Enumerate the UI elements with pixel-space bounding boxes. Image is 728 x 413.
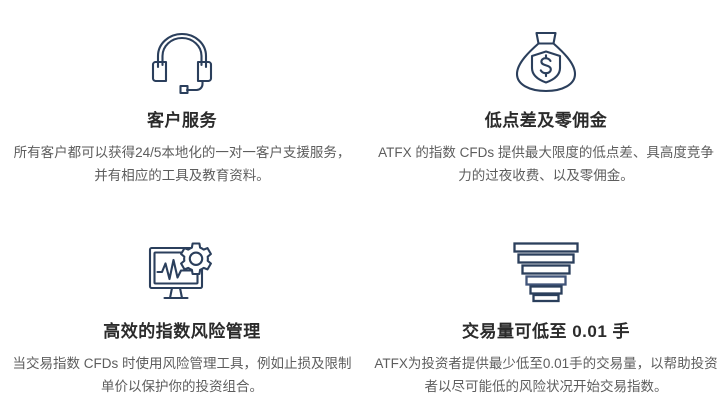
feature-card-risk-management: 高效的指数风险管理 当交易指数 CFDs 时使用风险管理工具，例如止损及限制单价… [0, 206, 364, 413]
headset-icon [141, 26, 223, 98]
funnel-bars-icon [505, 236, 587, 308]
feature-title: 高效的指数风险管理 [103, 321, 261, 343]
feature-card-low-spread: 低点差及零佣金 ATFX 的指数 CFDs 提供最大限度的低点差、具高度竞争力的… [364, 0, 728, 206]
features-grid: 客户服务 所有客户都可以获得24/5本地化的一对一客户支援服务，并有相应的工具及… [0, 0, 728, 413]
feature-title: 客户服务 [147, 110, 217, 132]
feature-description: 当交易指数 CFDs 时使用风险管理工具，例如止损及限制单价以保护你的投资组合。 [8, 352, 356, 398]
feature-description: 所有客户都可以获得24/5本地化的一对一客户支援服务，并有相应的工具及教育资料。 [8, 141, 356, 187]
monitor-chart-gear-icon [141, 236, 223, 308]
feature-card-customer-service: 客户服务 所有客户都可以获得24/5本地化的一对一客户支援服务，并有相应的工具及… [0, 0, 364, 206]
feature-card-lot-size: 交易量可低至 0.01 手 ATFX为投资者提供最少低至0.01手的交易量，以帮… [364, 206, 728, 413]
money-bag-shield-icon [505, 26, 587, 98]
feature-description: ATFX为投资者提供最少低至0.01手的交易量，以帮助投资者以尽可能低的风险状况… [372, 352, 720, 398]
feature-description: ATFX 的指数 CFDs 提供最大限度的低点差、具高度竞争力的过夜收费、以及零… [372, 141, 720, 187]
feature-title: 交易量可低至 0.01 手 [462, 321, 630, 343]
feature-title: 低点差及零佣金 [485, 110, 608, 132]
